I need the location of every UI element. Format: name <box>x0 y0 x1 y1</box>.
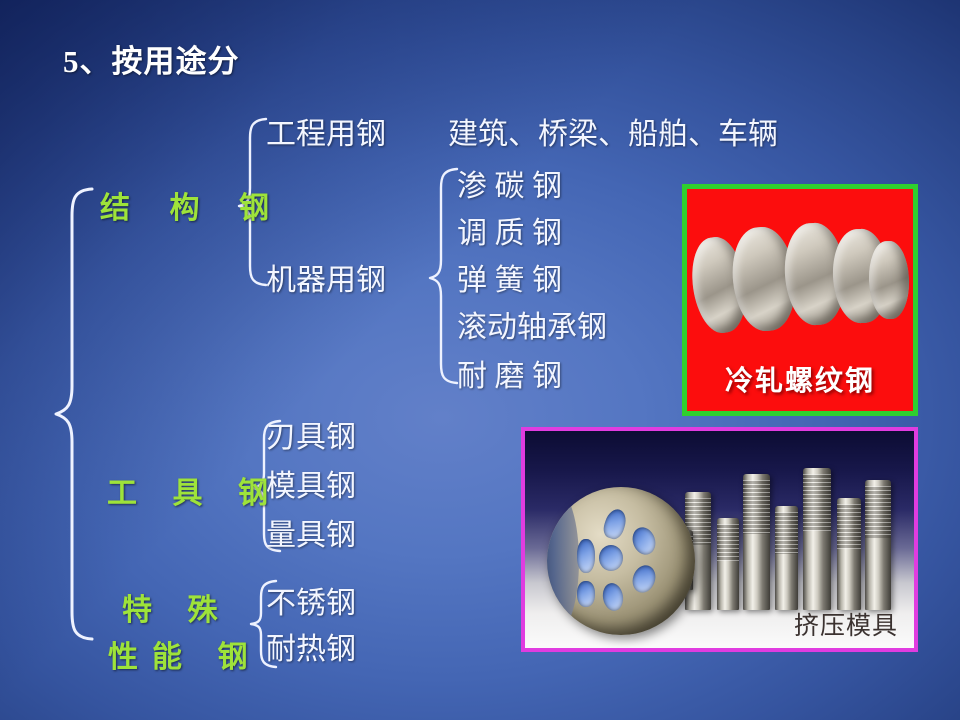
rebar-caption: 冷轧螺纹钢 <box>687 359 913 399</box>
machine-steel-brace <box>427 166 461 386</box>
machine-steel-item-4: 耐 磨 钢 <box>457 351 562 395</box>
dies-photo: 挤压模具 <box>525 431 914 648</box>
category-special-steel-line1: 特 殊 <box>122 585 232 629</box>
rebar-photo: 冷轧螺纹钢 <box>687 189 913 411</box>
page-title: 5、按用途分 <box>63 36 240 81</box>
category-tool-steel: 工 具 钢 <box>107 468 282 512</box>
dies-caption: 挤压模具 <box>794 606 898 642</box>
outer-brace <box>52 186 96 642</box>
image-cold-rolled-rebar: 冷轧螺纹钢 <box>682 184 918 416</box>
rebar-coils-graphic <box>693 219 907 337</box>
machine-steel-item-1: 调 质 钢 <box>457 208 562 252</box>
slide-canvas: 5、按用途分 结 构 钢 工程用钢 建筑、桥梁、船舶、车辆 机器用钢 渗 碳 钢… <box>0 0 960 720</box>
image-extrusion-dies: 挤压模具 <box>521 427 918 652</box>
category-structural-steel: 结 构 钢 <box>100 183 285 227</box>
tool-steel-item-2: 量具钢 <box>266 510 356 554</box>
machine-steel-item-2: 弹 簧 钢 <box>457 255 562 299</box>
tool-steel-item-0: 刃具钢 <box>266 412 356 456</box>
special-steel-item-1: 耐热钢 <box>266 624 356 668</box>
tool-steel-item-1: 模具钢 <box>266 461 356 505</box>
machine-steel-item-3: 滚动轴承钢 <box>457 302 607 346</box>
subcategory-engineering-steel: 工程用钢 <box>266 109 386 153</box>
die-disc-graphic <box>547 487 695 635</box>
engineering-steel-applications: 建筑、桥梁、船舶、车辆 <box>448 109 778 153</box>
special-steel-item-0: 不锈钢 <box>266 578 356 622</box>
subcategory-machine-steel: 机器用钢 <box>266 255 386 299</box>
category-special-steel-line2: 性能 钢 <box>108 632 262 676</box>
machine-steel-item-0: 渗 碳 钢 <box>457 161 562 205</box>
